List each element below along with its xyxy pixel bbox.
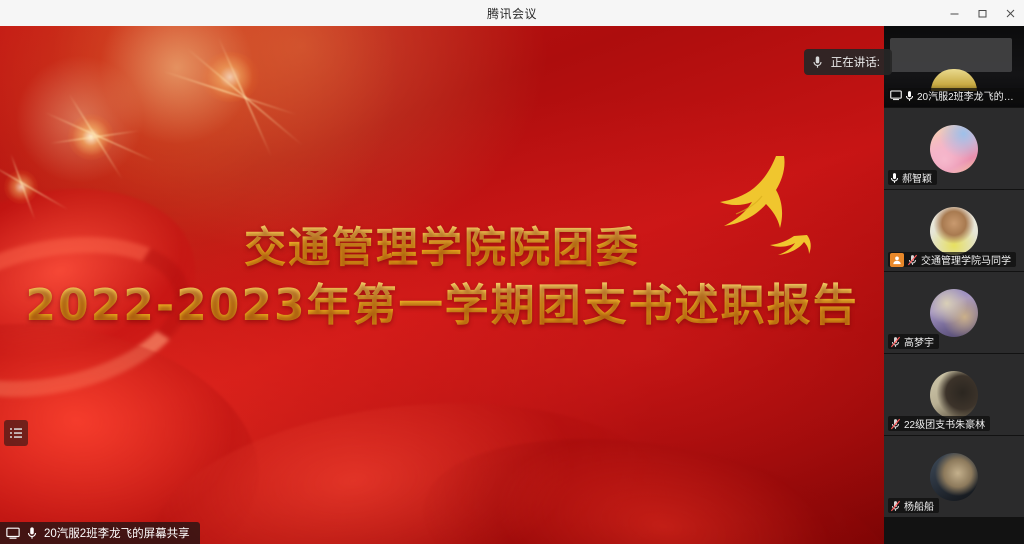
maximize-icon [977,8,988,19]
silk-ribbon-decoration [0,150,224,452]
participant-name: 交通管理学院马同学 [921,252,1011,267]
tile-footer: 20汽服2班李龙飞的屏… [888,88,1024,103]
silk-ribbon-decoration [0,213,205,420]
avatar [930,289,978,337]
window-title: 腾讯会议 [487,5,537,22]
maximize-button[interactable] [968,0,996,26]
silk-ribbon-decoration [406,406,884,544]
minimize-button[interactable] [940,0,968,26]
avatar [930,207,978,255]
close-button[interactable] [996,0,1024,26]
tile-footer: 交通管理学院马同学 [888,252,1016,267]
slide-title-line-1: 交通管理学院院团委 [0,222,884,273]
microphone-icon [26,526,38,540]
avatar [930,453,978,501]
slide-title-block: 交通管理学院院团委 2022-2023年第一学期团支书述职报告 [0,222,884,333]
window-controls [940,0,1024,26]
participant-tile[interactable]: 高梦宇 [884,272,1024,353]
light-flare-decoration [0,156,100,266]
participant-tile[interactable]: 郝智颖 [884,108,1024,189]
participant-name: 郝智颖 [902,170,932,185]
silk-ribbon-decoration [0,298,276,544]
tile-footer: 高梦宇 [888,334,939,349]
microphone-muted-icon [907,254,918,266]
microphone-muted-icon [890,336,901,348]
microphone-icon [812,55,823,69]
list-menu-icon [9,426,23,440]
microphone-icon [890,172,899,184]
participant-tile[interactable]: 交通管理学院马同学 [884,190,1024,271]
participant-name: 高梦宇 [904,334,934,349]
participant-tile[interactable]: 20汽服2班李龙飞的屏… [884,26,1024,107]
tile-footer: 杨船船 [888,498,939,513]
participant-filmstrip[interactable]: 20汽服2班李龙飞的屏… 郝智颖 [884,26,1024,544]
light-flare-decoration [160,46,320,186]
silk-ribbon-decoration [139,379,680,544]
minimize-icon [949,8,960,19]
title-bar: 腾讯会议 [0,0,1024,27]
slide-title-line-2: 2022-2023年第一学期团支书述职报告 [0,279,884,333]
presentation-slide: 交通管理学院院团委 2022-2023年第一学期团支书述职报告 [0,26,884,544]
screen-share-icon [6,526,20,540]
shared-screen-stage[interactable]: 交通管理学院院团委 2022-2023年第一学期团支书述职报告 [0,26,884,544]
screen-share-icon [890,90,902,101]
tile-footer: 22级团支书朱豪林 [888,416,990,431]
screen-share-owner-text: 20汽服2班李龙飞的屏幕共享 [44,525,190,541]
tencent-meeting-window: 腾讯会议 [0,0,1024,544]
avatar [930,371,978,419]
tile-footer: 郝智颖 [888,170,937,185]
participant-name: 20汽服2班李龙飞的屏… [917,88,1022,103]
participant-tile[interactable]: 22级团支书朱豪林 [884,354,1024,435]
avatar [930,125,978,173]
microphone-muted-icon [890,500,901,512]
participant-tile[interactable]: 杨船船 [884,436,1024,517]
participant-name: 杨船船 [904,498,934,513]
participant-name: 22级团支书朱豪林 [904,416,985,431]
host-person-icon [892,255,902,265]
speaking-indicator-text: 正在讲话: [831,54,880,70]
microphone-muted-icon [890,418,901,430]
host-badge-icon [890,253,904,267]
speaking-indicator-badge: 正在讲话: [804,49,892,75]
light-flare-decoration [50,96,170,216]
close-icon [1005,8,1016,19]
golden-doves-icon [706,144,826,264]
screen-share-owner-label: 20汽服2班李龙飞的屏幕共享 [0,522,200,544]
microphone-icon [905,90,914,102]
share-toolbar-menu-button[interactable] [4,420,28,446]
